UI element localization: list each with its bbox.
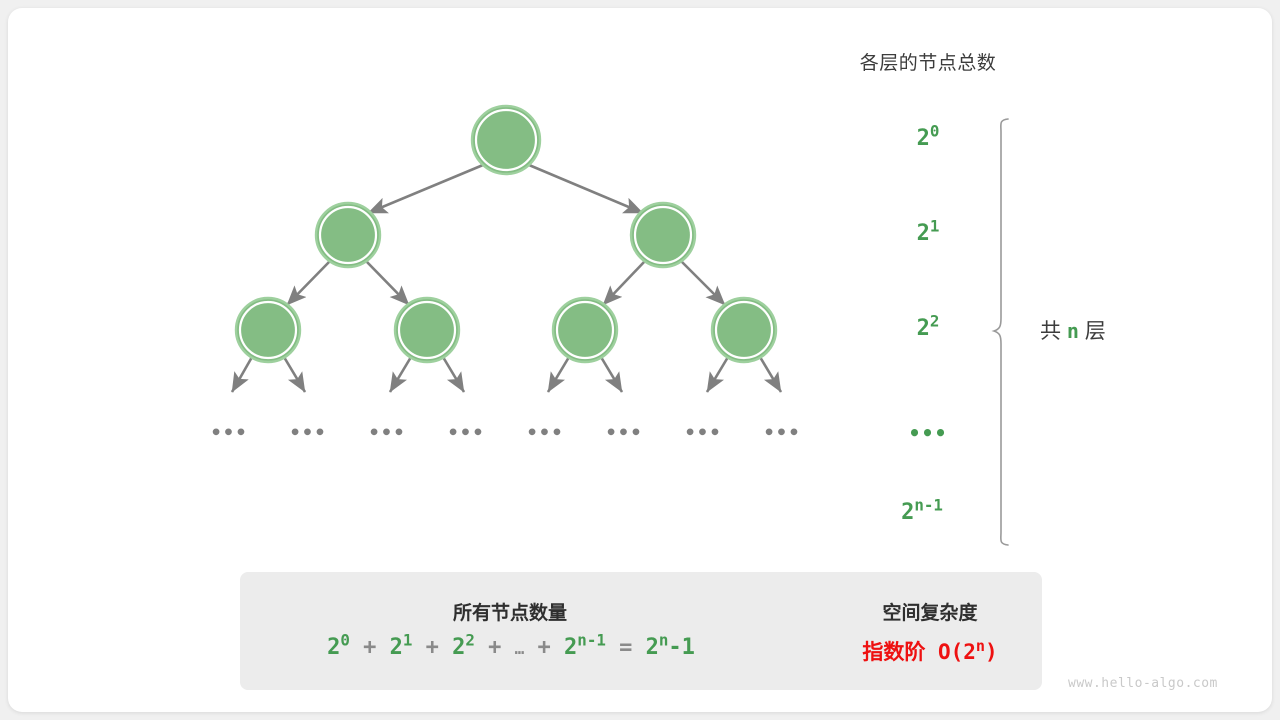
summary-left-heading: 所有节点数量: [280, 598, 740, 625]
figure-canvas: 各层的节点总数 20 21 22 ••• 2n-1 共 n 层 ••• ••• …: [0, 0, 1280, 720]
brace-label: 共 n 层: [1040, 315, 1210, 345]
summary-complexity: 指数阶 O(2n): [830, 636, 1030, 666]
level-count-label-1: 21: [868, 221, 988, 246]
leaf-ellipsis-6: •••: [683, 422, 723, 444]
brace-label-suffix: 层: [1085, 320, 1106, 343]
leaf-ellipsis-1: •••: [288, 422, 328, 444]
summary-formula: 20 + 21 + 22 + … + 2n-1 = 2n-1: [266, 635, 756, 660]
level-count-label-last: 2n-1: [862, 500, 982, 525]
brace-label-var: n: [1067, 319, 1079, 343]
summary-right-heading: 空间复杂度: [830, 598, 1030, 625]
column-title: 各层的节点总数: [838, 48, 1018, 75]
leaf-ellipsis-3: •••: [446, 422, 486, 444]
watermark: www.hello-algo.com: [1068, 676, 1218, 691]
leaf-ellipsis-2: •••: [367, 422, 407, 444]
level-count-label-2: 22: [868, 316, 988, 341]
leaf-ellipsis-0: •••: [209, 422, 249, 444]
summary-box: [240, 572, 1042, 690]
leaf-ellipsis-4: •••: [525, 422, 565, 444]
brace-label-prefix: 共: [1040, 320, 1061, 343]
level-count-label-0: 20: [868, 126, 988, 151]
level-count-label-ellipsis: •••: [868, 421, 988, 445]
leaf-ellipsis-7: •••: [762, 422, 802, 444]
leaf-ellipsis-5: •••: [604, 422, 644, 444]
